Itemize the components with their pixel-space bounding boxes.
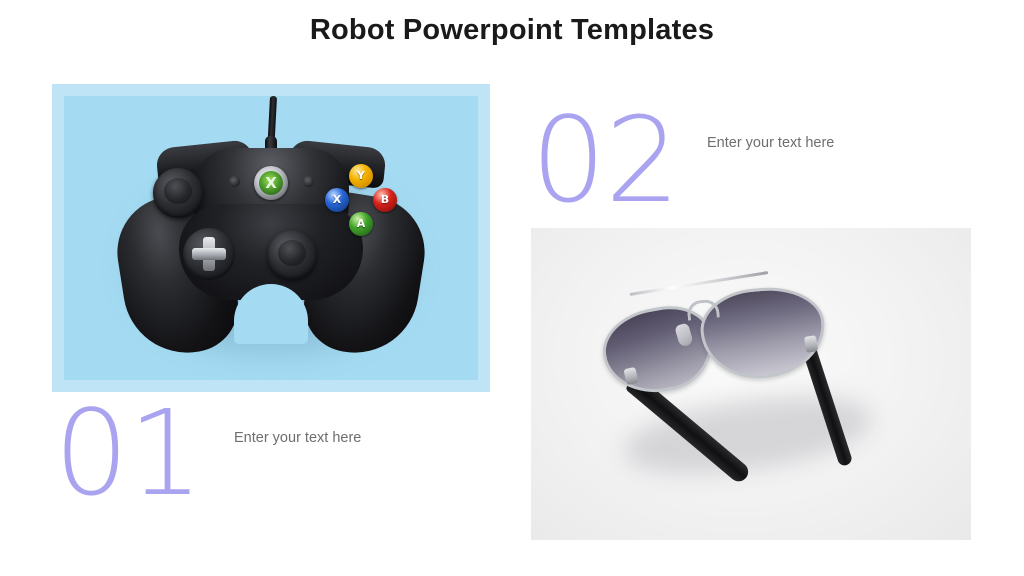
item-number-02: 02 <box>531 101 679 219</box>
sunglasses-far-hinge <box>804 335 818 353</box>
controller-dpad <box>183 228 235 280</box>
controller-body: X Y X B A <box>121 144 421 354</box>
controller-button-b: B <box>373 188 397 212</box>
controller-right-thumbstick <box>267 230 317 280</box>
slide-canvas: Robot Powerpoint Templates <box>0 0 1024 576</box>
sunglasses-photo[interactable] <box>531 228 971 540</box>
controller-button-x: X <box>325 188 349 212</box>
controller-guide-button: X <box>254 166 288 200</box>
controller-button-a: A <box>349 212 373 236</box>
controller-button-y: Y <box>349 164 373 188</box>
controller-start-button <box>303 176 314 187</box>
item-caption-01[interactable]: Enter your text here <box>234 428 361 448</box>
sunglasses-object <box>593 280 913 495</box>
xbox-logo-icon: X <box>263 175 280 192</box>
game-controller-photo[interactable]: X Y X B A <box>52 84 490 392</box>
controller-left-thumbstick <box>153 168 203 218</box>
controller-photo-inner-mat: X Y X B A <box>64 96 478 380</box>
item-number-01: 01 <box>54 394 202 512</box>
page-title: Robot Powerpoint Templates <box>0 12 1024 48</box>
dpad-cross-icon <box>192 237 226 271</box>
item-caption-02[interactable]: Enter your text here <box>707 133 834 153</box>
controller-back-button <box>229 176 240 187</box>
